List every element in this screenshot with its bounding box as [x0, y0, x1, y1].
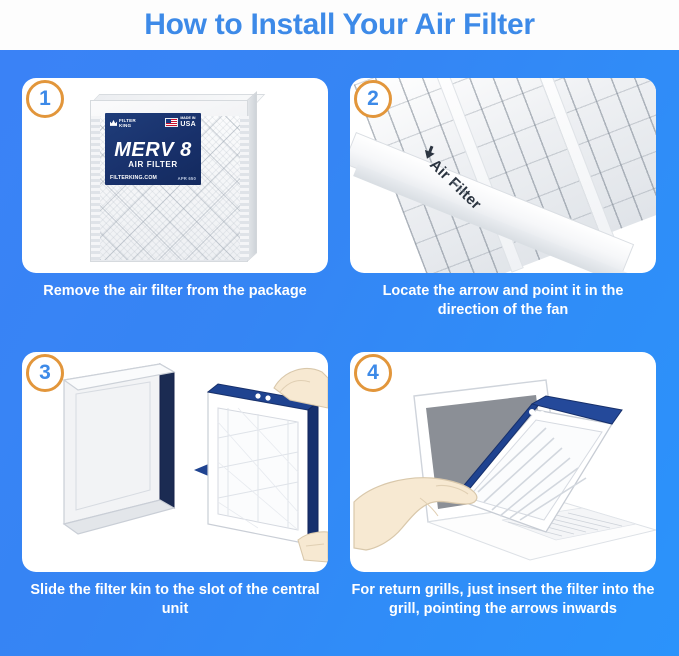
step-4-artwork — [350, 352, 656, 572]
apr-rating: APR 650 — [178, 176, 196, 181]
step-caption-4: For return grills, just insert the filte… — [350, 581, 656, 620]
filter-left-rib — [91, 116, 100, 260]
step-caption-2: Locate the arrow and point it in the dir… — [350, 282, 656, 321]
country-label: USA — [180, 121, 196, 129]
made-in-usa-mark: MADE IN USA — [165, 117, 196, 129]
label-bottom-row: FILTERKING.COM APR 650 — [110, 175, 196, 181]
step-card-1: FILTER KING MADE IN USA — [22, 78, 328, 301]
merv-rating: MERV 8 — [105, 139, 201, 162]
step-card-2: Air Filter AIRFLOW 2 Locate the arrow an… — [350, 78, 656, 321]
website-url: FILTERKING.COM — [110, 175, 157, 181]
page-title: How to Install Your Air Filter — [144, 8, 534, 42]
steps-grid: FILTER KING MADE IN USA — [0, 50, 679, 656]
title-band: How to Install Your Air Filter — [0, 0, 679, 50]
step-2-artwork: Air Filter AIRFLOW — [350, 78, 656, 273]
made-in-usa-text: MADE IN USA — [180, 117, 196, 129]
step-3-image-card: 3 — [22, 352, 328, 572]
step-caption-1: Remove the air filter from the package — [22, 282, 328, 301]
us-flag-icon — [165, 118, 178, 127]
step-4-image-card: 4 — [350, 352, 656, 572]
brand-line-2: KING — [119, 123, 131, 128]
product-type-label: AIR FILTER — [105, 160, 201, 169]
infographic-poster: How to Install Your Air Filter — [0, 0, 679, 656]
step-2-image-card: Air Filter AIRFLOW 2 — [350, 78, 656, 273]
filter-king-logo: FILTER KING — [110, 118, 136, 128]
made-in-label: MADE IN — [180, 116, 195, 120]
step-1-artwork: FILTER KING MADE IN USA — [22, 78, 328, 273]
step-number-badge-1: 1 — [26, 80, 64, 118]
brand-name: FILTER KING — [119, 118, 136, 128]
label-top-row: FILTER KING MADE IN USA — [110, 117, 196, 129]
hand-bottom — [298, 532, 328, 562]
step-number-badge-3: 3 — [26, 354, 64, 392]
filter-brand-label: FILTER KING MADE IN USA — [105, 113, 201, 185]
slide-filter-illustration — [22, 352, 328, 572]
filter-right-rib — [240, 116, 249, 260]
step-1-image-card: FILTER KING MADE IN USA — [22, 78, 328, 273]
air-filter-product-photo: FILTER KING MADE IN USA — [90, 94, 258, 266]
step-card-3: 3 Slide the filter kin to the slot of th… — [22, 352, 328, 620]
return-grill-illustration — [350, 352, 656, 572]
step-number-badge-2: 2 — [354, 80, 392, 118]
step-card-4: 4 For return grills, just insert the fil… — [350, 352, 656, 620]
step-number-badge-4: 4 — [354, 354, 392, 392]
filter-front-face: FILTER KING MADE IN USA — [90, 100, 248, 262]
step-caption-3: Slide the filter kin to the slot of the … — [22, 581, 328, 620]
central-unit-housing — [64, 364, 174, 534]
crown-icon — [110, 120, 117, 126]
step-3-artwork — [22, 352, 328, 572]
new-filter-panel — [208, 384, 318, 544]
